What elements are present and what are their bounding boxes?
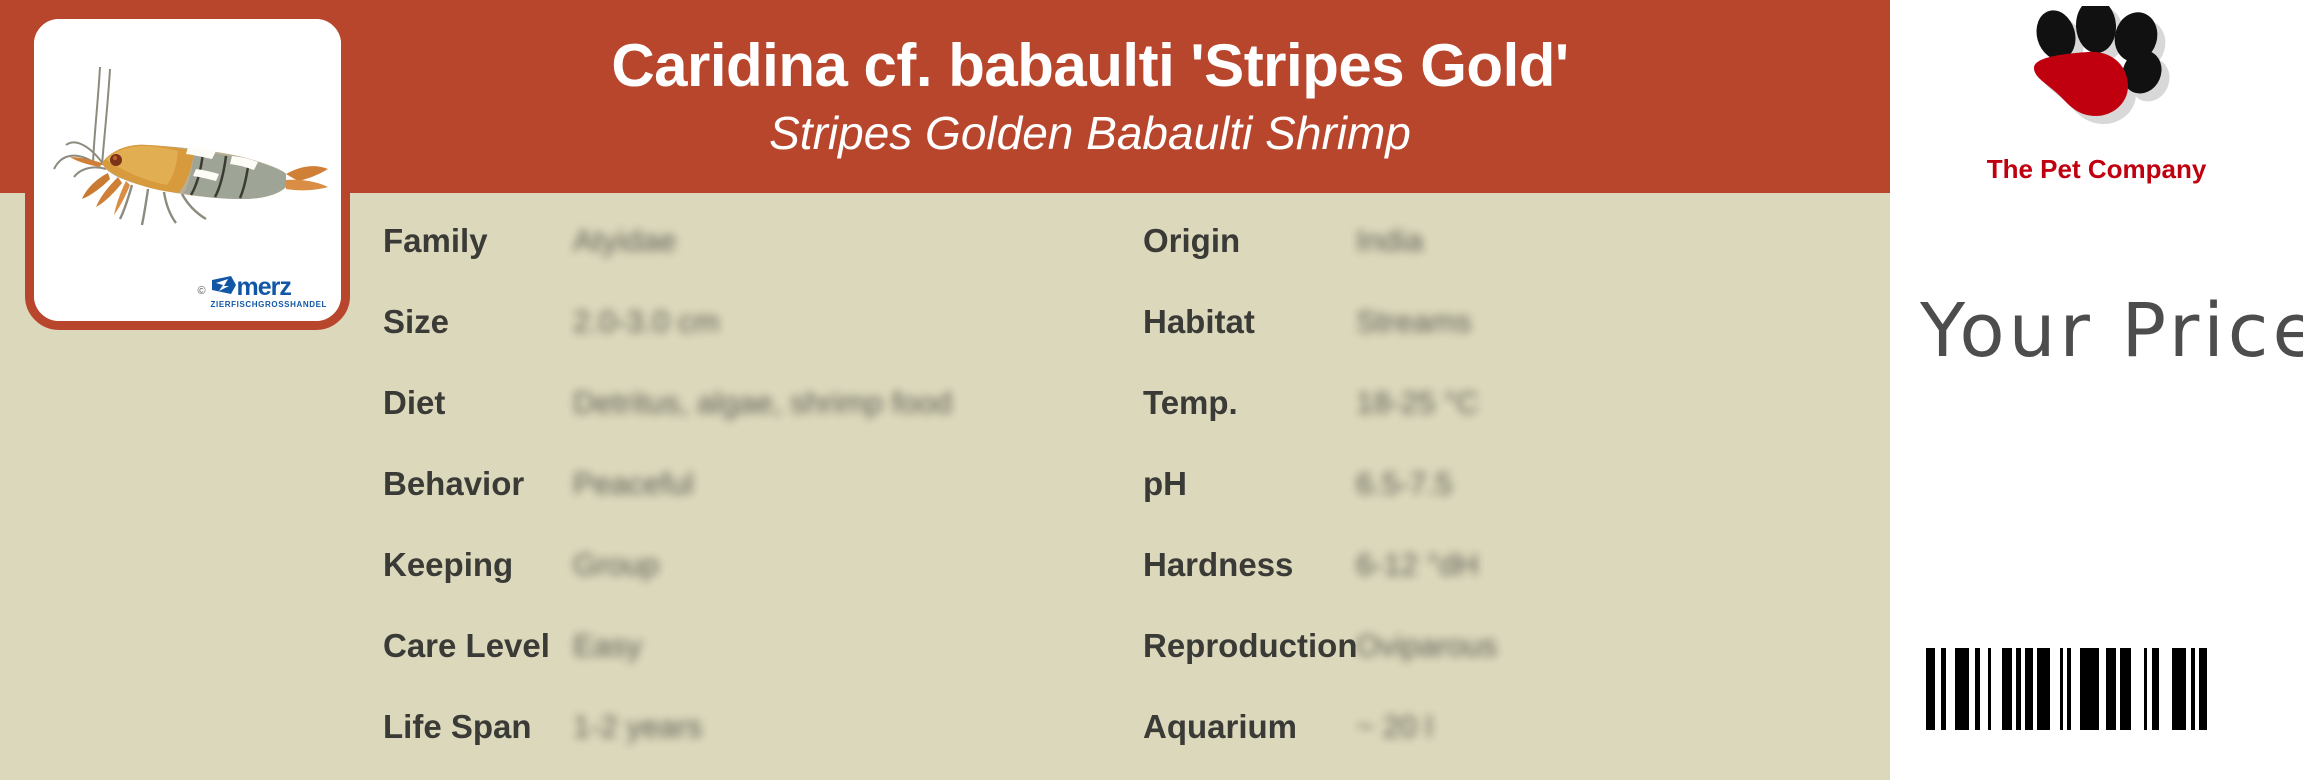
attribute-label: Behavior bbox=[383, 465, 573, 503]
barcode-bar bbox=[2060, 648, 2063, 730]
barcode-bar bbox=[2067, 648, 2071, 730]
attribute-value: Atyidae bbox=[573, 223, 676, 259]
species-info-card: Caridina cf. babaulti 'Stripes Gold' Str… bbox=[0, 0, 2303, 780]
attribute-row: Temp. 18-25 °C bbox=[1143, 362, 1883, 443]
barcode-bar bbox=[1975, 648, 1980, 730]
barcode-bar bbox=[2080, 648, 2099, 730]
attribute-label: Origin bbox=[1143, 222, 1356, 260]
merz-logo: merz ZIERFISCHGROSSHANDEL bbox=[211, 274, 327, 309]
barcode-bar bbox=[1988, 648, 1991, 730]
barcode-bar bbox=[2120, 648, 2131, 730]
attribute-row: Hardness 6-12 °dH bbox=[1143, 524, 1883, 605]
barcode-bar bbox=[2172, 648, 2186, 730]
copyright-icon: © bbox=[197, 286, 205, 297]
attribute-label: Life Span bbox=[383, 708, 573, 746]
barcode-bar bbox=[1941, 648, 1946, 730]
attribute-value: India bbox=[1356, 223, 1423, 259]
merz-tagline: ZIERFISCHGROSSHANDEL bbox=[211, 301, 327, 309]
attribute-value: ~ 20 l bbox=[1356, 709, 1433, 745]
barcode-bar bbox=[2191, 648, 2195, 730]
attribute-value: Streams bbox=[1356, 304, 1471, 340]
info-panel: Caridina cf. babaulti 'Stripes Gold' Str… bbox=[0, 0, 1890, 780]
attribute-row: Keeping Group bbox=[383, 524, 1143, 605]
merz-fish-icon bbox=[211, 274, 237, 296]
attribute-column-right: Origin India Habitat Streams Temp. 18-25… bbox=[1143, 193, 1883, 767]
attribute-value: Easy bbox=[573, 628, 642, 664]
attribute-row: Origin India bbox=[1143, 200, 1883, 281]
attribute-row: Behavior Peaceful bbox=[383, 443, 1143, 524]
brand-logo: The Pet Company bbox=[1890, 6, 2303, 211]
attribute-value: 6-12 °dH bbox=[1356, 547, 1479, 583]
shrimp-illustration bbox=[36, 47, 341, 257]
barcode-bar bbox=[2152, 648, 2159, 730]
price-label: Your Price bbox=[1920, 288, 2303, 374]
brand-name: The Pet Company bbox=[1890, 154, 2303, 185]
barcode-bar bbox=[2144, 648, 2147, 730]
species-photo: © merz ZIERFISCHGROSSHANDEL bbox=[34, 19, 341, 321]
side-panel: The Pet Company Your Price bbox=[1890, 0, 2303, 780]
attribute-label: Aquarium bbox=[1143, 708, 1356, 746]
attribute-label: pH bbox=[1143, 465, 1356, 503]
barcode-bar bbox=[2199, 648, 2207, 730]
paw-print-svg bbox=[1890, 6, 2303, 156]
barcode-bar bbox=[1955, 648, 1969, 730]
attribute-row: Family Atyidae bbox=[383, 200, 1143, 281]
barcode-bar bbox=[2002, 648, 2012, 730]
attribute-label: Keeping bbox=[383, 546, 573, 584]
attribute-row: Life Span 1-2 years bbox=[383, 686, 1143, 767]
barcode-bar bbox=[1926, 648, 1935, 730]
attribute-value: Oviparous bbox=[1356, 628, 1497, 664]
attribute-label: Habitat bbox=[1143, 303, 1356, 341]
species-common-name: Stripes Golden Babaulti Shrimp bbox=[769, 107, 1411, 160]
attribute-value: Detritus, algae, shrimp food bbox=[573, 385, 952, 421]
attribute-value: 6.5-7.5 bbox=[1356, 466, 1453, 502]
attribute-row: Aquarium ~ 20 l bbox=[1143, 686, 1883, 767]
attribute-value: 18-25 °C bbox=[1356, 385, 1479, 421]
attribute-row: Habitat Streams bbox=[1143, 281, 1883, 362]
barcode-bar bbox=[2106, 648, 2116, 730]
header-text-block: Caridina cf. babaulti 'Stripes Gold' Str… bbox=[340, 0, 1840, 193]
paw-print-icon bbox=[1890, 6, 2303, 156]
attribute-value: Peaceful bbox=[573, 466, 694, 502]
attribute-label: Size bbox=[383, 303, 573, 341]
barcode-bar bbox=[2037, 648, 2050, 730]
attribute-row: Diet Detritus, algae, shrimp food bbox=[383, 362, 1143, 443]
attribute-row: pH 6.5-7.5 bbox=[1143, 443, 1883, 524]
product-barcode bbox=[1926, 648, 2207, 730]
attribute-label: Care Level bbox=[383, 627, 573, 665]
attribute-label: Diet bbox=[383, 384, 573, 422]
attribute-label: Hardness bbox=[1143, 546, 1356, 584]
attribute-label: Temp. bbox=[1143, 384, 1356, 422]
attribute-label: Reproduction bbox=[1143, 627, 1356, 665]
attribute-row: Reproduction Oviparous bbox=[1143, 605, 1883, 686]
attribute-row: Care Level Easy bbox=[383, 605, 1143, 686]
species-photo-frame: © merz ZIERFISCHGROSSHANDEL bbox=[25, 10, 350, 330]
barcode-bar bbox=[2025, 648, 2033, 730]
attribute-value: Group bbox=[573, 547, 659, 583]
merz-wordmark: merz bbox=[237, 276, 291, 300]
attribute-label: Family bbox=[383, 222, 573, 260]
species-scientific-name: Caridina cf. babaulti 'Stripes Gold' bbox=[611, 34, 1568, 97]
photo-watermark: © merz ZIERFISCHGROSSHANDEL bbox=[197, 274, 327, 309]
attribute-row: Size 2.0-3.0 cm bbox=[383, 281, 1143, 362]
barcode-bar bbox=[2016, 648, 2021, 730]
attribute-column-left: Family Atyidae Size 2.0-3.0 cm Diet Detr… bbox=[383, 193, 1143, 767]
attribute-value: 1-2 years bbox=[573, 709, 702, 745]
attribute-value: 2.0-3.0 cm bbox=[573, 304, 719, 340]
